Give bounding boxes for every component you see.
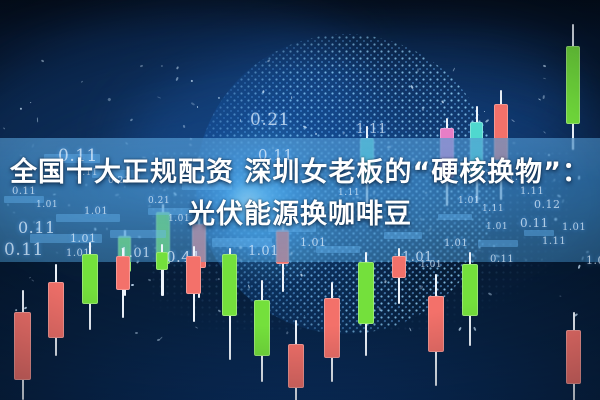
candlestick-body [462,264,478,316]
candlestick-body [324,298,340,358]
candlestick [156,252,168,270]
candlestick-body [222,254,237,316]
candlestick [254,300,270,356]
candlestick [82,254,98,304]
candlestick [392,256,406,278]
headline-line-1: 全国十大正规配资 深圳女老板的“硬核换物”： [0,152,600,194]
candlestick [324,298,340,358]
candlestick [288,344,304,388]
candlestick-body [428,296,444,352]
candlestick [116,256,130,290]
candlestick [14,312,31,380]
candlestick-body [392,256,406,278]
candlestick-body [566,330,581,384]
candlestick-body [254,300,270,356]
candlestick [222,254,237,316]
candlestick [186,256,201,294]
candlestick-body [82,254,98,304]
candlestick [566,330,581,384]
candlestick-body [116,256,130,290]
banner-image: 0.110.210.111.110.111.011.110.211.010.11… [0,0,600,400]
candlestick [358,262,374,324]
candlestick-body [186,256,201,294]
page-title: 全国十大正规配资 深圳女老板的“硬核换物”： 光伏能源换咖啡豆 [0,152,600,236]
candlestick-body [14,312,31,380]
candlestick-body [48,282,64,338]
candlestick [462,264,478,316]
candlestick-body [288,344,304,388]
candlestick-body [358,262,374,324]
candlestick [428,296,444,352]
candlestick-body [156,252,168,270]
headline-line-2: 光伏能源换咖啡豆 [0,194,600,236]
candlestick [48,282,64,338]
